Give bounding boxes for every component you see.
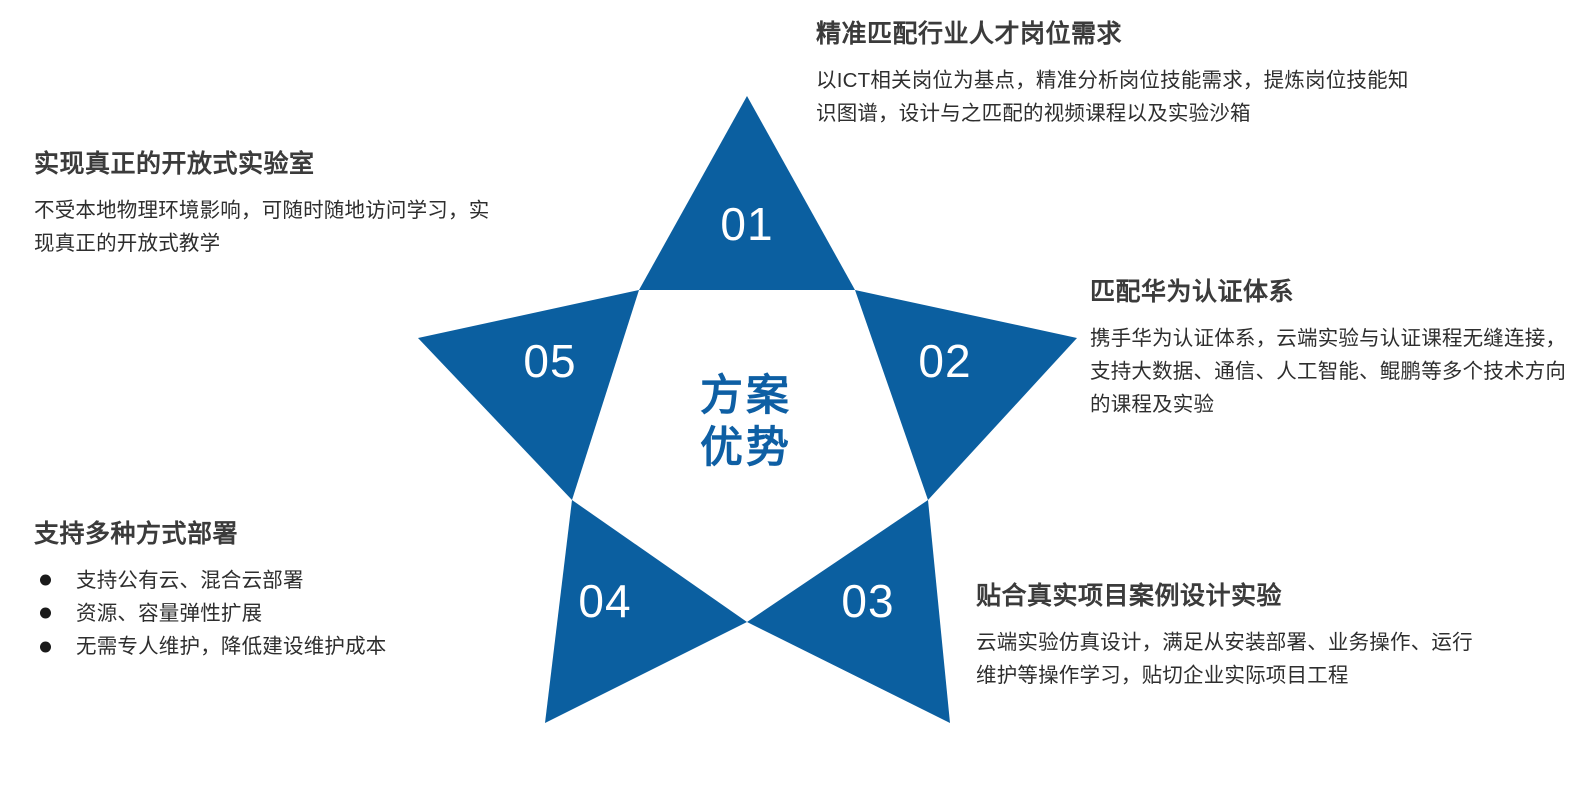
- star-number-01: 01: [720, 198, 773, 250]
- advantage-body-02: 携手华为认证体系，云端实验与认证课程无缝连接，支持大数据、通信、人工智能、鲲鹏等…: [1090, 322, 1570, 422]
- advantage-block-03: 贴合真实项目案例设计实验 云端实验仿真设计，满足从安装部署、业务操作、运行维护等…: [976, 580, 1476, 692]
- advantage-bullet-list-04: 支持公有云、混合云部署 资源、容量弹性扩展 无需专人维护，降低建设维护成本: [34, 564, 504, 664]
- star-number-04: 04: [578, 575, 631, 627]
- advantage-block-05: 实现真正的开放式实验室 不受本地物理环境影响，可随时随地访问学习，实现真正的开放…: [34, 148, 504, 260]
- advantage-title-03: 贴合真实项目案例设计实验: [976, 580, 1476, 613]
- advantage-body-01: 以ICT相关岗位为基点，精准分析岗位技能需求，提炼岗位技能知识图谱，设计与之匹配…: [816, 64, 1416, 130]
- advantage-block-04: 支持多种方式部署 支持公有云、混合云部署 资源、容量弹性扩展 无需专人维护，降低…: [34, 518, 504, 663]
- slide-canvas: 01 02 03 04 05 方案 优势 精准匹配行业人才岗位需求 以ICT相关…: [0, 0, 1573, 794]
- advantage-title-02: 匹配华为认证体系: [1090, 276, 1570, 309]
- list-item: 无需专人维护，降低建设维护成本: [34, 630, 504, 663]
- star-number-05: 05: [523, 335, 576, 387]
- star-point-04[interactable]: [545, 500, 747, 723]
- star-number-03: 03: [841, 575, 894, 627]
- star-center-label: 方案 优势: [646, 370, 846, 475]
- list-item: 资源、容量弹性扩展: [34, 597, 504, 630]
- advantage-title-01: 精准匹配行业人才岗位需求: [816, 18, 1416, 51]
- list-item: 支持公有云、混合云部署: [34, 564, 504, 597]
- bullet-dot-icon: [40, 575, 51, 586]
- list-item-label: 支持公有云、混合云部署: [76, 569, 304, 592]
- advantage-title-05: 实现真正的开放式实验室: [34, 148, 504, 181]
- bullet-dot-icon: [40, 608, 51, 619]
- advantage-title-04: 支持多种方式部署: [34, 518, 504, 551]
- advantage-body-05: 不受本地物理环境影响，可随时随地访问学习，实现真正的开放式教学: [34, 194, 504, 260]
- list-item-label: 资源、容量弹性扩展: [76, 602, 262, 625]
- star-point-05[interactable]: [418, 290, 639, 500]
- advantage-body-03: 云端实验仿真设计，满足从安装部署、业务操作、运行维护等操作学习，贴切企业实际项目…: [976, 626, 1476, 692]
- advantage-block-02: 匹配华为认证体系 携手华为认证体系，云端实验与认证课程无缝连接，支持大数据、通信…: [1090, 276, 1570, 421]
- star-point-02[interactable]: [855, 290, 1077, 500]
- advantage-block-01: 精准匹配行业人才岗位需求 以ICT相关岗位为基点，精准分析岗位技能需求，提炼岗位…: [816, 18, 1416, 130]
- list-item-label: 无需专人维护，降低建设维护成本: [76, 635, 387, 658]
- star-number-02: 02: [918, 335, 971, 387]
- bullet-dot-icon: [40, 641, 51, 652]
